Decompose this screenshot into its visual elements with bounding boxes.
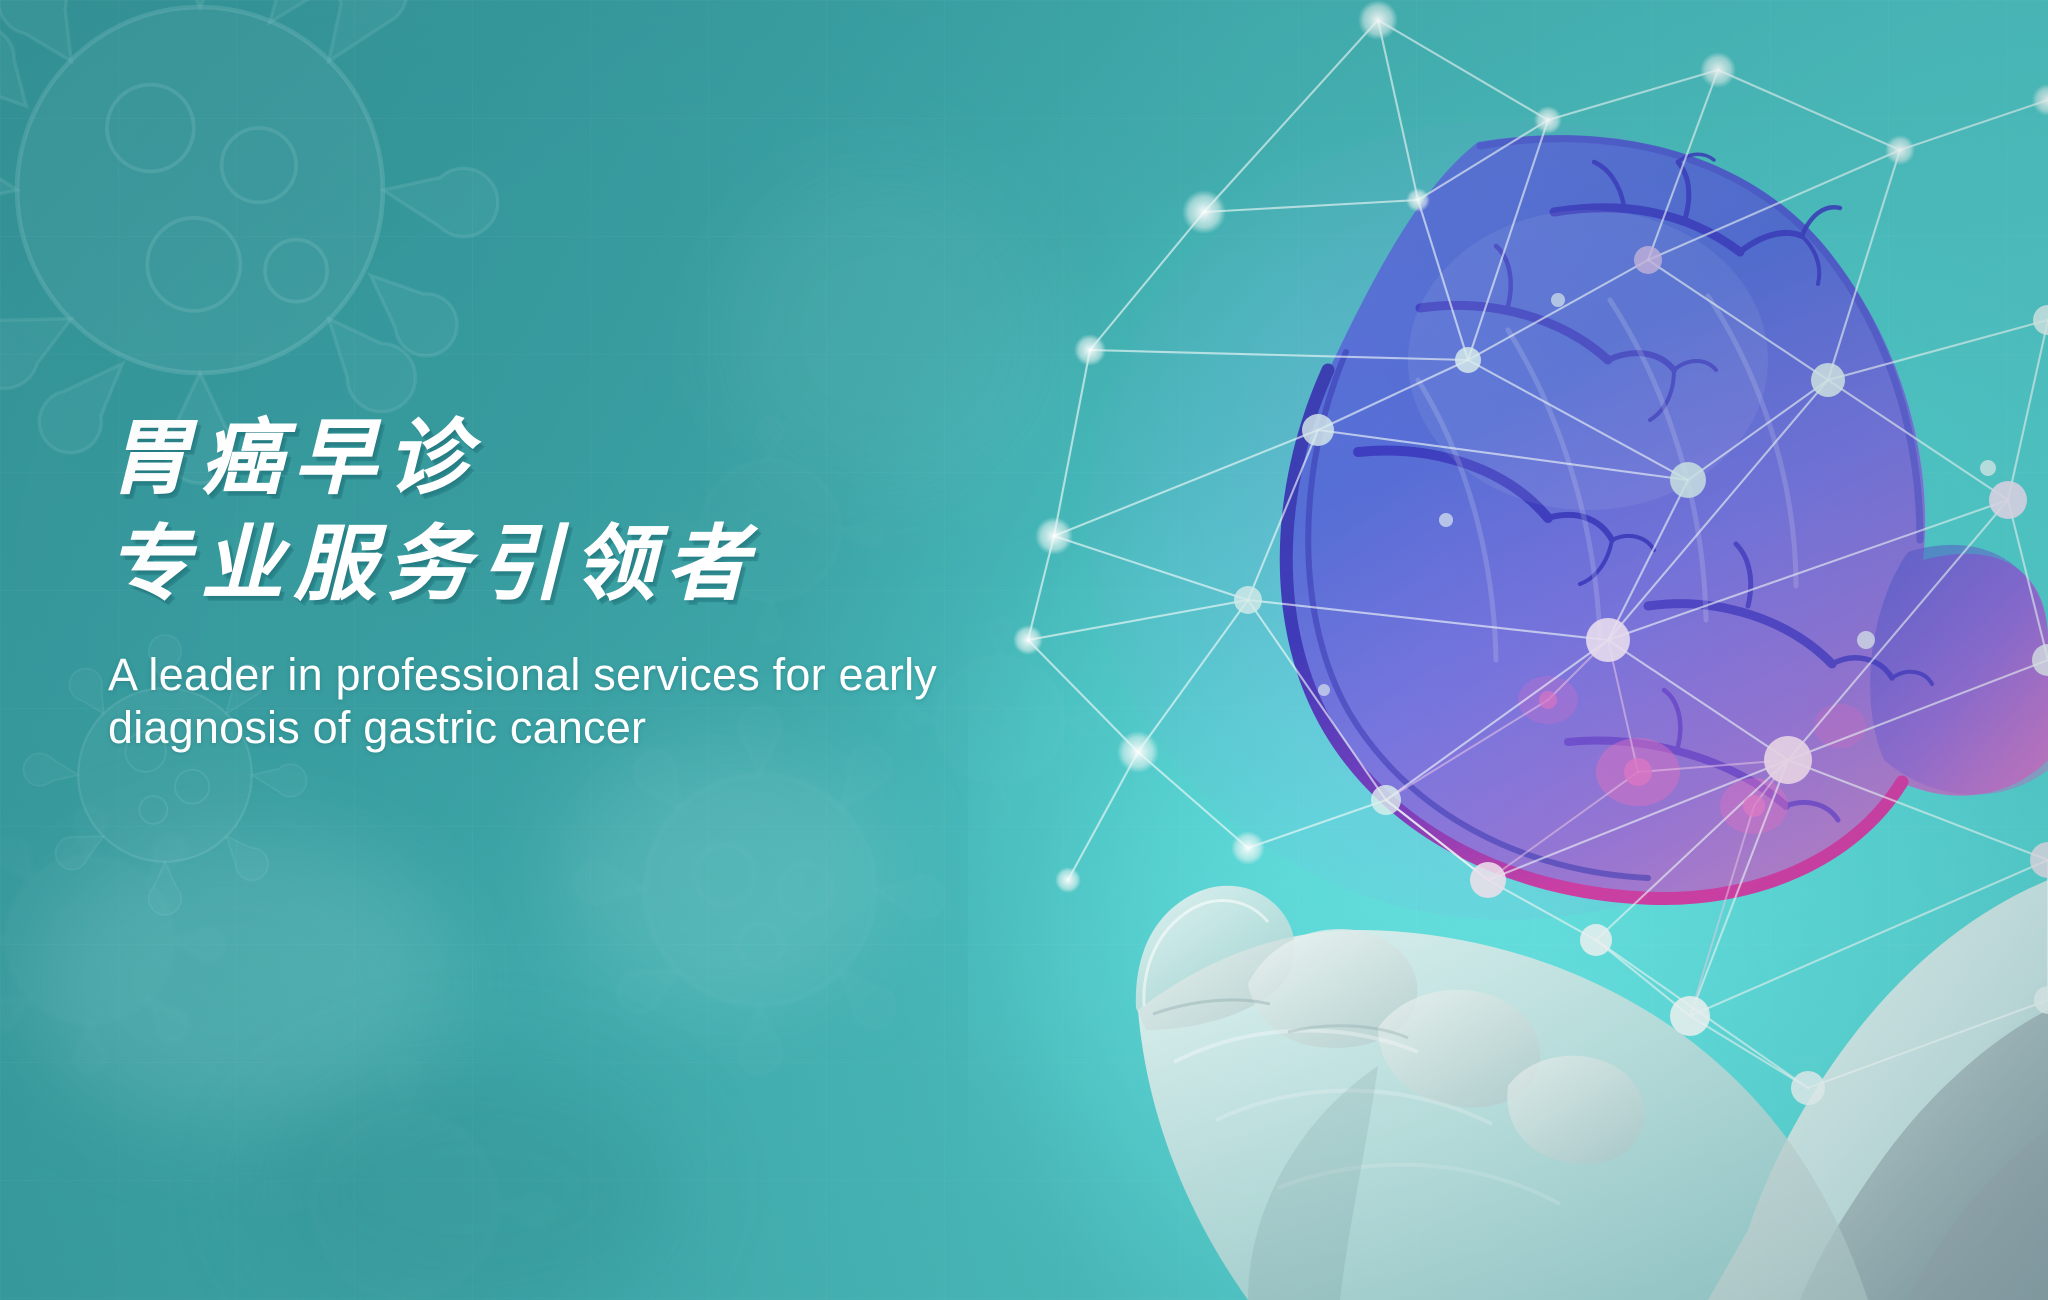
banner-root: 胃癌早诊 专业服务引领者 A leader in professional se… <box>0 0 2048 1300</box>
background-vignette <box>0 0 2048 1300</box>
